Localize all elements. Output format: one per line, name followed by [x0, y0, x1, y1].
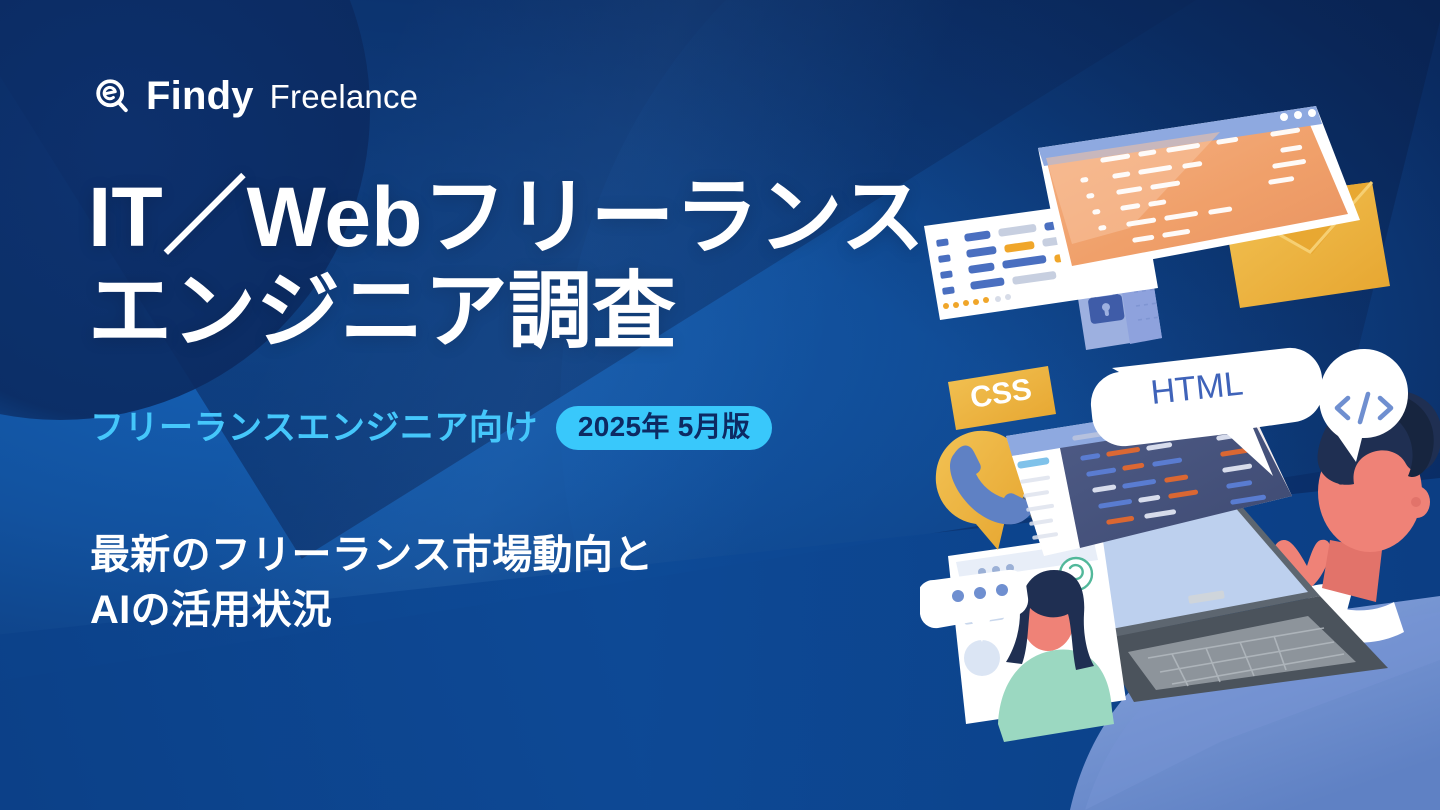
description-line-2: AIの活用状況 [90, 583, 850, 638]
description-line-1: 最新のフリーランス市場動向と [90, 528, 850, 583]
css-tag-icon: CSS [948, 366, 1056, 430]
hero-content: Findy Freelance IT／Webフリーランス エンジニア調査 フリー… [88, 0, 1048, 810]
hero-description: 最新のフリーランス市場動向と AIの活用状況 [90, 528, 850, 638]
video-call-card-icon [948, 534, 1126, 742]
findy-magnifier-logo-icon [92, 76, 132, 116]
edition-badge: 2025年 5月版 [556, 406, 772, 450]
hero-illustration: CSS HTML [920, 0, 1440, 810]
subtitle-row: フリーランスエンジニア向け 2025年 5月版 [90, 406, 772, 450]
brand-name: Findy [146, 76, 254, 116]
subtitle-text: フリーランスエンジニア向け [90, 411, 538, 445]
hero-banner: Findy Freelance IT／Webフリーランス エンジニア調査 フリー… [0, 0, 1440, 810]
brand-lockup[interactable]: Findy Freelance [92, 76, 418, 116]
brand-product: Freelance [270, 80, 419, 113]
